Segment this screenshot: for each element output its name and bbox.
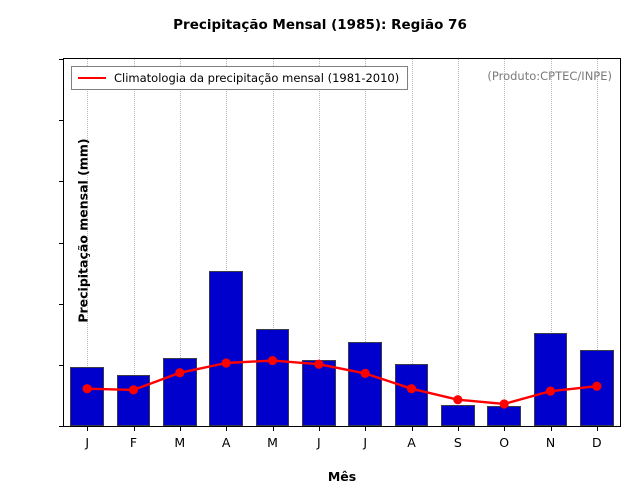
climatology-line-series xyxy=(64,59,620,426)
chart-title: Precipitação Mensal (1985): Região 76 xyxy=(0,17,640,33)
y-tick-mark xyxy=(59,120,64,121)
x-tick-label: A xyxy=(206,435,246,450)
y-tick-mark xyxy=(59,304,64,305)
y-tick-mark xyxy=(59,59,64,60)
x-tick-label: F xyxy=(114,435,154,450)
x-tick-mark xyxy=(365,426,366,431)
climatology-marker xyxy=(546,387,555,396)
climatology-marker xyxy=(314,360,323,369)
x-axis-label: Mês xyxy=(64,469,620,484)
x-tick-label: M xyxy=(253,435,293,450)
y-tick-mark xyxy=(59,243,64,244)
x-tick-mark xyxy=(597,426,598,431)
climatology-marker xyxy=(361,369,370,378)
producer-annotation: (Produto:CPTEC/INPE) xyxy=(487,69,612,83)
climatology-marker xyxy=(500,399,509,408)
climatology-marker xyxy=(453,395,462,404)
climatology-marker xyxy=(222,358,231,367)
legend: Climatologia da precipitação mensal (198… xyxy=(71,66,408,90)
climatology-marker xyxy=(129,385,138,394)
x-tick-mark xyxy=(319,426,320,431)
x-tick-mark xyxy=(226,426,227,431)
x-tick-mark xyxy=(134,426,135,431)
x-tick-mark xyxy=(504,426,505,431)
x-tick-label: D xyxy=(577,435,617,450)
legend-label: Climatologia da precipitação mensal (198… xyxy=(114,71,399,85)
y-tick-mark xyxy=(59,181,64,182)
climatology-marker xyxy=(175,368,184,377)
x-tick-label: O xyxy=(484,435,524,450)
climatology-polyline xyxy=(87,361,597,404)
x-tick-label: J xyxy=(345,435,385,450)
x-tick-mark xyxy=(273,426,274,431)
chart-figure: Precipitação Mensal (1985): Região 76 01… xyxy=(0,0,640,500)
y-tick-mark xyxy=(59,365,64,366)
y-tick-mark xyxy=(59,426,64,427)
x-tick-label: N xyxy=(531,435,571,450)
plot-area: 0100200300400500600 JFMAMJJASOND Precipi… xyxy=(63,58,621,427)
x-tick-mark xyxy=(180,426,181,431)
x-tick-label: A xyxy=(392,435,432,450)
climatology-markers xyxy=(83,356,602,409)
y-axis-label: Precipitação mensal (mm) xyxy=(76,41,91,421)
x-tick-mark xyxy=(458,426,459,431)
x-tick-label: M xyxy=(160,435,200,450)
x-tick-mark xyxy=(551,426,552,431)
x-tick-mark xyxy=(87,426,88,431)
x-tick-label: J xyxy=(67,435,107,450)
x-tick-mark xyxy=(412,426,413,431)
climatology-marker xyxy=(592,382,601,391)
climatology-marker xyxy=(407,384,416,393)
x-tick-label: J xyxy=(299,435,339,450)
climatology-marker xyxy=(268,356,277,365)
legend-line-swatch-icon xyxy=(78,77,106,79)
x-tick-label: S xyxy=(438,435,478,450)
